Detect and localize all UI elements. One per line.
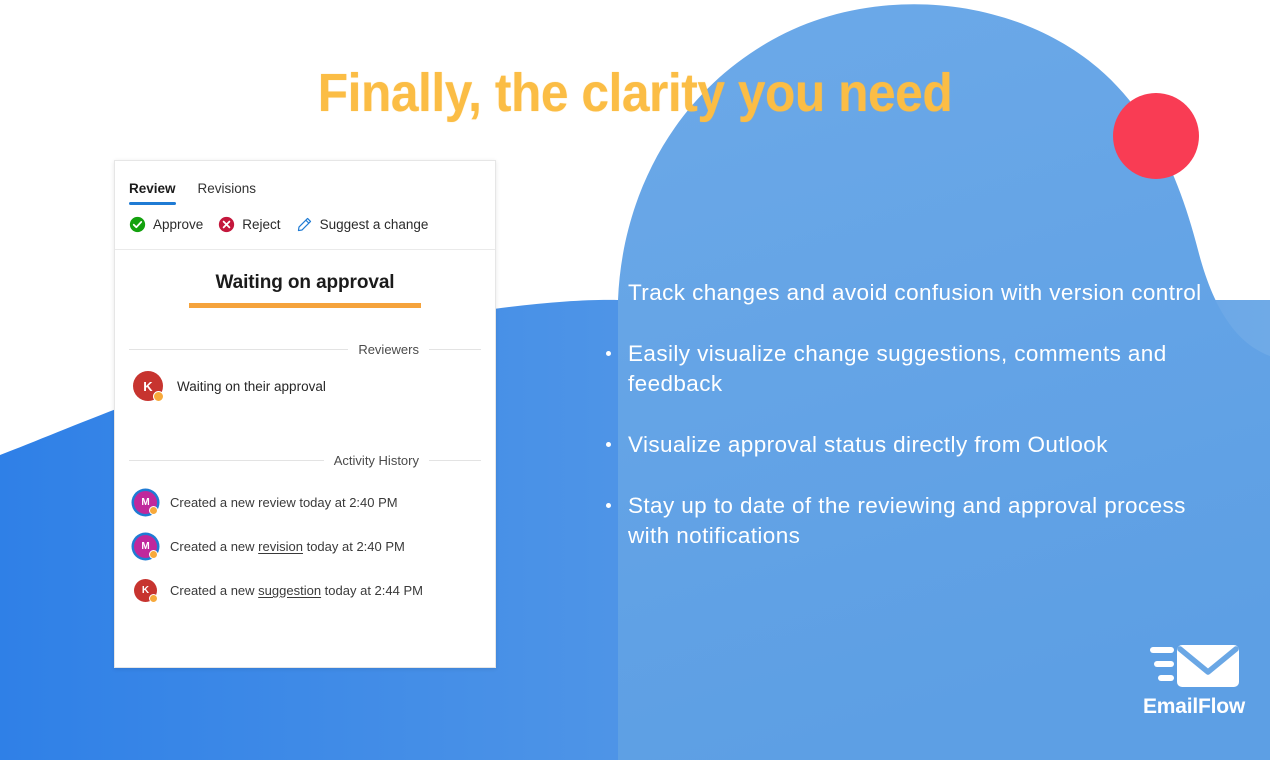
x-circle-icon: [218, 216, 235, 233]
activity-text: Created a new suggestion today at 2:44 P…: [170, 583, 423, 598]
activity-section-divider: Activity History: [115, 453, 495, 468]
divider-line-left: [129, 349, 348, 350]
list-item: Stay up to date of the reviewing and app…: [600, 491, 1220, 551]
avatar: M: [134, 535, 157, 558]
suggest-change-label: Suggest a change: [320, 217, 429, 232]
activity-link[interactable]: suggestion: [258, 583, 321, 598]
brand-logo: EmailFlow: [1133, 640, 1255, 719]
benefits-list: Track changes and avoid confusion with v…: [600, 278, 1220, 551]
reviewers-list: K Waiting on their approval: [115, 371, 495, 401]
list-item: Track changes and avoid confusion with v…: [600, 278, 1220, 308]
slide-canvas: Finally, the clarity you need Review Rev…: [0, 0, 1270, 760]
tab-review-label: Review: [129, 181, 176, 196]
list-item: Visualize approval status directly from …: [600, 430, 1220, 460]
activity-history-list: M Created a new review today at 2:40 PM …: [115, 468, 495, 602]
list-item[interactable]: K Created a new suggestion today at 2:44…: [115, 579, 495, 602]
presence-dot-icon: [153, 391, 164, 402]
activity-text-before: Created a new: [170, 539, 258, 554]
activity-section-label: Activity History: [334, 453, 419, 468]
reject-label: Reject: [242, 217, 280, 232]
page-title: Finally, the clarity you need: [51, 62, 1219, 124]
brand-wordmark: EmailFlow: [1133, 695, 1255, 719]
check-circle-icon: [129, 216, 146, 233]
pencil-icon: [296, 216, 313, 233]
reviewers-section-label: Reviewers: [358, 342, 419, 357]
activity-text: Created a new review today at 2:40 PM: [170, 495, 398, 510]
reviewer-status-text: Waiting on their approval: [177, 379, 326, 394]
avatar: K: [134, 579, 157, 602]
tab-bar: Review Revisions: [129, 161, 481, 205]
tab-review[interactable]: Review: [129, 181, 176, 205]
reviewers-section-divider: Reviewers: [115, 342, 495, 357]
avatar: M: [134, 491, 157, 514]
divider-line-right: [429, 460, 481, 461]
list-item[interactable]: M Created a new revision today at 2:40 P…: [115, 535, 495, 558]
tab-revisions-label: Revisions: [198, 181, 257, 196]
activity-text: Created a new revision today at 2:40 PM: [170, 539, 405, 554]
activity-text-after: today at 2:40 PM: [303, 539, 405, 554]
approve-button[interactable]: Approve: [129, 216, 203, 233]
presence-dot-icon: [149, 550, 158, 559]
activity-text-after: today at 2:44 PM: [321, 583, 423, 598]
list-item: Easily visualize change suggestions, com…: [600, 339, 1220, 399]
activity-text-before: Created a new review today at 2:40 PM: [170, 495, 398, 510]
review-app-card: Review Revisions Approve: [114, 160, 496, 668]
status-underline-rule: [189, 303, 421, 308]
approve-label: Approve: [153, 217, 203, 232]
action-bar: Approve Reject Suggest a change: [129, 205, 481, 249]
presence-dot-icon: [149, 506, 158, 515]
reviewer-row[interactable]: K Waiting on their approval: [115, 371, 495, 401]
divider-line-left: [129, 460, 324, 461]
reject-button[interactable]: Reject: [218, 216, 280, 233]
approval-status-title: Waiting on approval: [216, 272, 395, 294]
presence-dot-icon: [149, 594, 158, 603]
approval-status-block: Waiting on approval: [115, 250, 495, 308]
activity-link[interactable]: revision: [258, 539, 303, 554]
avatar: K: [133, 371, 163, 401]
activity-text-before: Created a new: [170, 583, 258, 598]
suggest-change-button[interactable]: Suggest a change: [296, 216, 429, 233]
tab-revisions[interactable]: Revisions: [198, 181, 257, 205]
card-header: Review Revisions Approve: [115, 161, 495, 250]
list-item[interactable]: M Created a new review today at 2:40 PM: [115, 491, 495, 514]
divider-line-right: [429, 349, 481, 350]
envelope-speed-icon: [1144, 640, 1244, 692]
